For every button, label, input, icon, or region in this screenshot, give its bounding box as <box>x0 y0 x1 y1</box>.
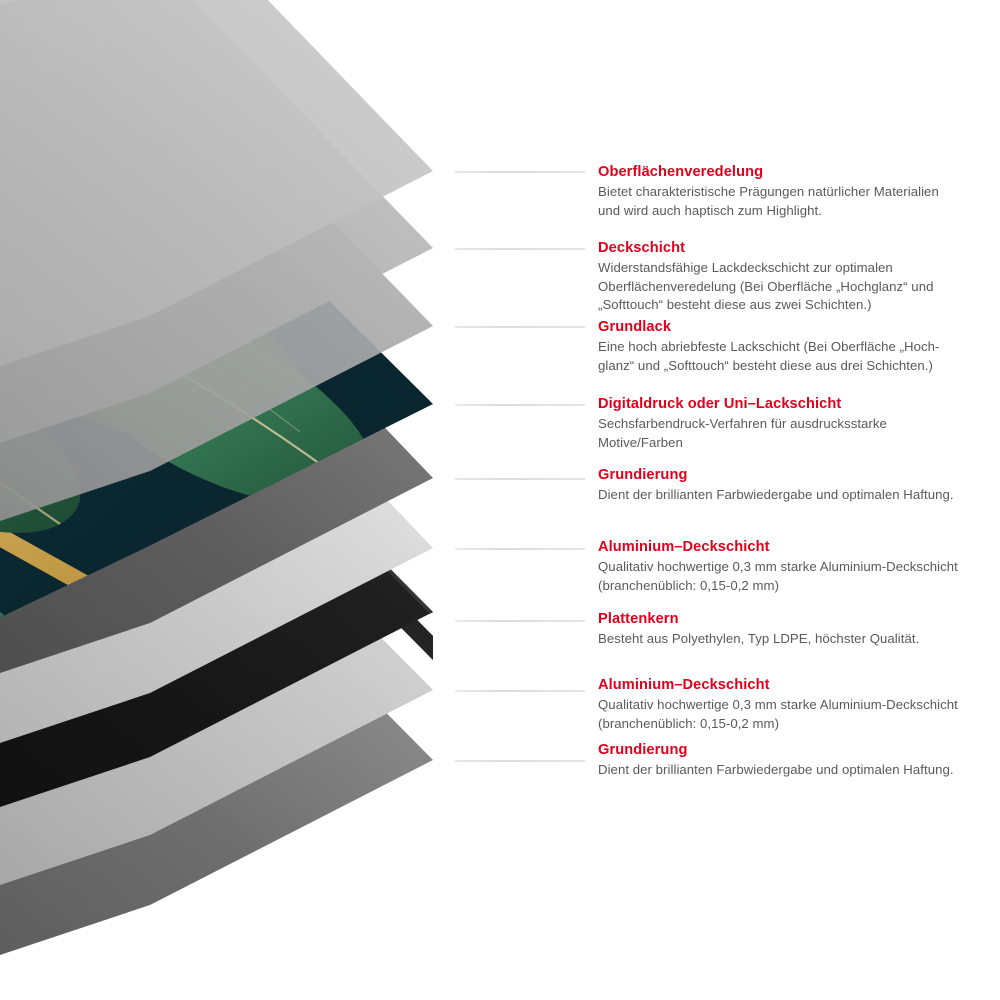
layer-body-oberflaechenveredelung: Bietet charakteristische Prägungen natür… <box>598 183 960 220</box>
connector-line-grundierung-oben <box>455 478 585 480</box>
layer-entry-digitaldruck: Digitaldruck oder Uni–LackschichtSechsfa… <box>598 396 960 452</box>
layer-title-grundierung-unten: Grundierung <box>598 742 960 759</box>
infographic-stage: OberflächenveredelungBietet charakterist… <box>0 0 1000 1000</box>
layer-stack-diagram <box>0 0 470 1000</box>
connector-line-grundlack <box>455 326 585 328</box>
connector-line-aluminium-deckschicht-unten <box>455 690 585 692</box>
layer-title-grundlack: Grundlack <box>598 319 960 336</box>
connector-line-aluminium-deckschicht-oben <box>455 548 585 550</box>
connector-line-grundierung-unten <box>455 760 585 762</box>
layer-title-oberflaechenveredelung: Oberflächenveredelung <box>598 164 960 181</box>
layer-title-deckschicht: Deckschicht <box>598 240 960 257</box>
connector-line-deckschicht <box>455 248 585 250</box>
layer-title-digitaldruck: Digitaldruck oder Uni–Lackschicht <box>598 396 960 413</box>
layer-title-grundierung-oben: Grundierung <box>598 467 960 484</box>
layer-entry-grundierung-oben: GrundierungDient der brillianten Farbwie… <box>598 467 960 505</box>
layer-body-deckschicht: Widerstandsfähige Lackdeckschicht zur op… <box>598 259 960 315</box>
layer-entry-aluminium-deckschicht-unten: Aluminium–DeckschichtQualitativ hochwert… <box>598 677 960 733</box>
layer-body-digitaldruck: Sechsfarbendruck-Verfahren für ausdrucks… <box>598 415 960 452</box>
connector-line-oberflaechenveredelung <box>455 171 585 173</box>
layer-body-aluminium-deckschicht-oben: Qualitativ hochwertige 0,3 mm starke Alu… <box>598 558 960 595</box>
layer-entry-grundierung-unten: GrundierungDient der brillianten Farbwie… <box>598 742 960 780</box>
layer-entry-aluminium-deckschicht-oben: Aluminium–DeckschichtQualitativ hochwert… <box>598 539 960 595</box>
layer-title-aluminium-deckschicht-unten: Aluminium–Deckschicht <box>598 677 960 694</box>
layer-entry-grundlack: GrundlackEine hoch abriebfeste Lackschic… <box>598 319 960 375</box>
layer-body-grundlack: Eine hoch abriebfeste Lackschicht (Bei O… <box>598 338 960 375</box>
layer-description-list: OberflächenveredelungBietet charakterist… <box>598 0 978 1000</box>
layer-title-plattenkern: Plattenkern <box>598 611 960 628</box>
connector-line-digitaldruck <box>455 404 585 406</box>
layer-body-aluminium-deckschicht-unten: Qualitativ hochwertige 0,3 mm starke Alu… <box>598 696 960 733</box>
layer-title-aluminium-deckschicht-oben: Aluminium–Deckschicht <box>598 539 960 556</box>
layer-body-plattenkern: Besteht aus Polyethylen, Typ LDPE, höchs… <box>598 630 960 649</box>
layer-entry-oberflaechenveredelung: OberflächenveredelungBietet charakterist… <box>598 164 960 220</box>
layer-body-grundierung-unten: Dient der brillianten Farbwiedergabe und… <box>598 761 960 780</box>
connector-line-plattenkern <box>455 620 585 622</box>
layer-entry-plattenkern: PlattenkernBesteht aus Polyethylen, Typ … <box>598 611 960 649</box>
layer-body-grundierung-oben: Dient der brillianten Farbwiedergabe und… <box>598 486 960 505</box>
layer-entry-deckschicht: DeckschichtWiderstandsfähige Lackdecksch… <box>598 240 960 315</box>
